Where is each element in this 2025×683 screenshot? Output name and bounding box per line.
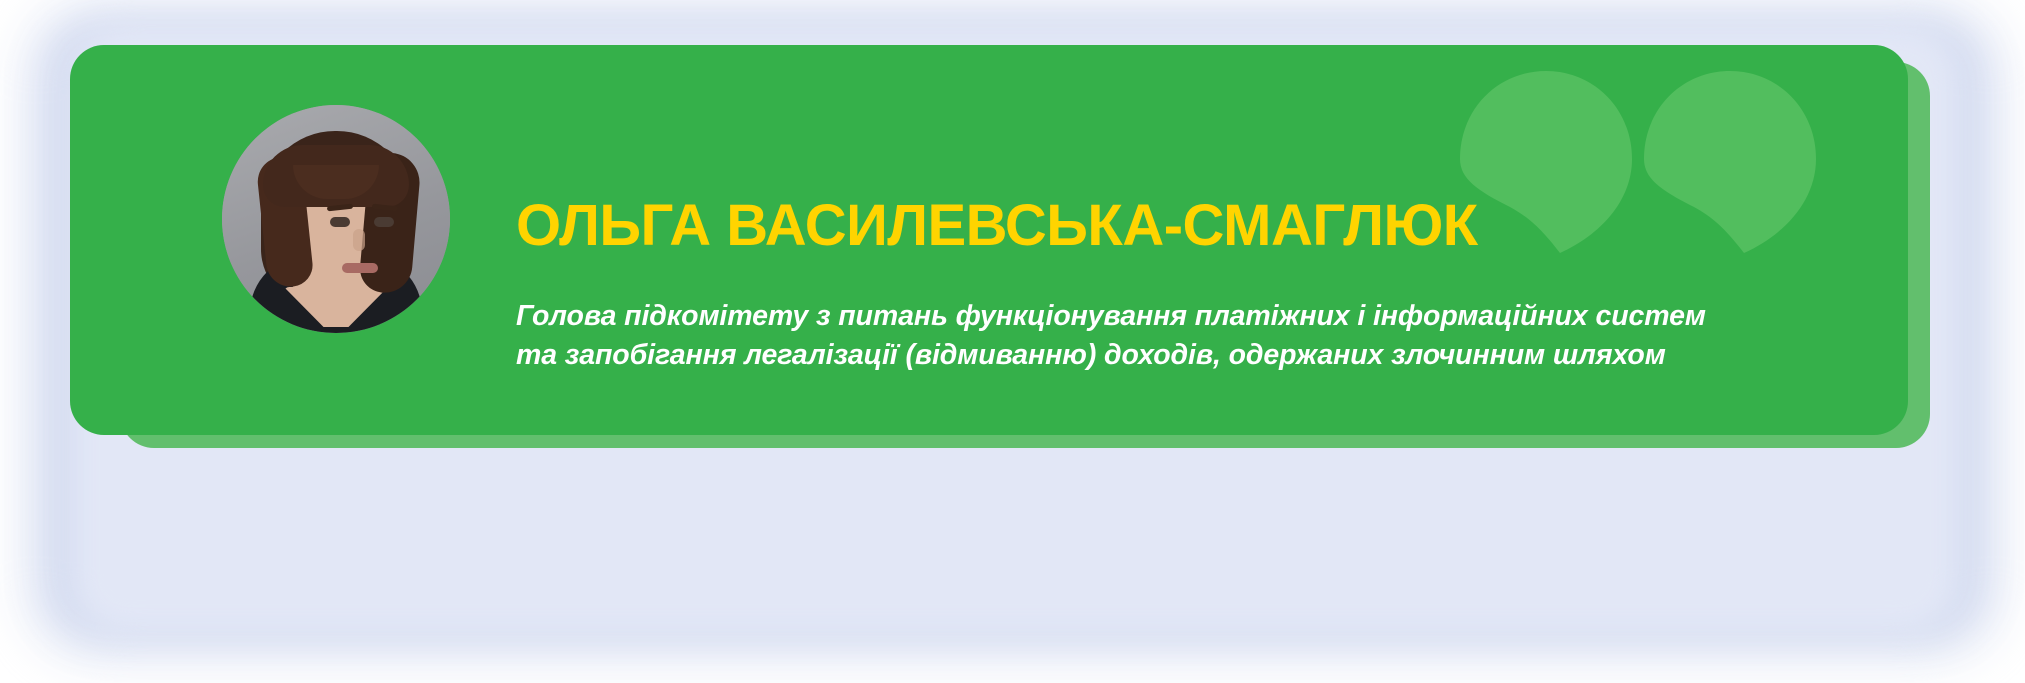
avatar [222,105,450,333]
speaker-title: Голова підкомітету з питань функціонуван… [516,297,1908,375]
avatar-photo [222,105,450,333]
quote-card-stage: ОЛЬГА ВАСИЛЕВСЬКА-СМАГЛЮК Голова підкомі… [0,0,2025,683]
quote-card: ОЛЬГА ВАСИЛЕВСЬКА-СМАГЛЮК Голова підкомі… [70,45,1908,435]
quotation-mark-icon [1454,67,1874,257]
speaker-title-line-1: Голова підкомітету з питань функціонуван… [516,297,1908,336]
speaker-name: ОЛЬГА ВАСИЛЕВСЬКА-СМАГЛЮК [516,195,1478,257]
speaker-title-line-2: та запобігання легалізації (відмиванню) … [516,336,1908,375]
